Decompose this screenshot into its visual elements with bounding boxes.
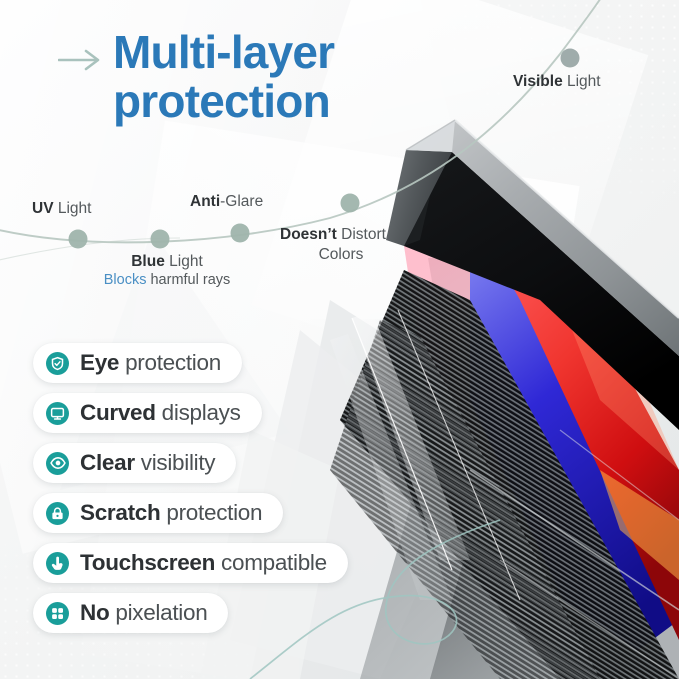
marketing-infographic: Multi-layer protection UV Light Anti-Gla… (0, 0, 679, 679)
callout-visible-light: Visible Light (513, 73, 601, 91)
feature-pill-eye-protection[interactable]: Eye protection (33, 343, 242, 383)
callout-label-rest: Light (563, 73, 601, 90)
page-title-line-1: Multi-layer (113, 28, 443, 77)
feature-label-bold: Curved (80, 400, 156, 425)
lock-icon (46, 502, 69, 525)
arrow-right-icon (58, 48, 104, 72)
feature-pill-clear-visibility[interactable]: Clear visibility (33, 443, 236, 483)
callout-blue-light: Blue Light Blocks harmful rays (82, 253, 252, 288)
callout-label-bold: Visible (513, 73, 563, 90)
feature-label: No pixelation (80, 600, 207, 626)
callout-subtext-rest: harmful rays (146, 272, 230, 288)
touch-hand-icon (46, 552, 69, 575)
feature-list: Eye protection Curved displays (33, 343, 348, 643)
callout-label-bold: Doesn’t (280, 226, 337, 243)
callout-label-bold: Blue (131, 253, 165, 270)
feature-label-bold: Touchscreen (80, 550, 215, 575)
callout-anti-glare: Anti-Glare (190, 193, 263, 211)
callout-label-rest: -Glare (220, 193, 263, 210)
callout-subtext-accent: Blocks (104, 272, 147, 288)
feature-label: Curved displays (80, 400, 241, 426)
callout-label-bold: Anti (190, 193, 220, 210)
feature-label-bold: Clear (80, 450, 135, 475)
feature-label-bold: Eye (80, 350, 119, 375)
monitor-icon (46, 402, 69, 425)
feature-label: Scratch protection (80, 500, 262, 526)
eye-icon (46, 452, 69, 475)
callout-label-rest: Distort (337, 226, 386, 243)
callout-uv-light: UV Light (32, 200, 91, 218)
feature-label-rest: displays (156, 400, 241, 425)
feature-label-rest: compatible (215, 550, 327, 575)
shield-check-icon (46, 352, 69, 375)
feature-label-rest: protection (119, 350, 221, 375)
callout-label-rest: Light (54, 200, 92, 217)
callout-label-bold: UV (32, 200, 54, 217)
feature-pill-touchscreen-compatible[interactable]: Touchscreen compatible (33, 543, 348, 583)
callout-label-rest: Light (165, 253, 203, 270)
feature-pill-curved-displays[interactable]: Curved displays (33, 393, 262, 433)
feature-pill-no-pixelation[interactable]: No pixelation (33, 593, 228, 633)
feature-label: Clear visibility (80, 450, 215, 476)
callout-subtext: Blocks harmful rays (82, 272, 252, 288)
feature-label-rest: pixelation (109, 600, 207, 625)
feature-label-bold: Scratch (80, 500, 160, 525)
page-title: Multi-layer protection (113, 28, 443, 126)
feature-label-bold: No (80, 600, 109, 625)
page-title-line-2: protection (113, 77, 443, 126)
callout-doesnt-distort-colors: Doesn’t Distort Colors (280, 225, 430, 265)
feature-label: Touchscreen compatible (80, 550, 327, 576)
feature-label-rest: visibility (135, 450, 215, 475)
callout-label-rest-line-2: Colors (319, 246, 364, 263)
feature-label-rest: protection (160, 500, 262, 525)
feature-pill-scratch-protection[interactable]: Scratch protection (33, 493, 283, 533)
feature-label: Eye protection (80, 350, 221, 376)
four-dots-icon (46, 602, 69, 625)
